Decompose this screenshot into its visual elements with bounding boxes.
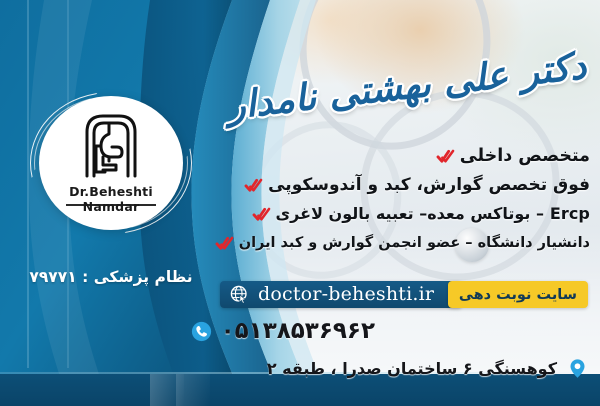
- appointment-badge[interactable]: سایت نوبت دهی: [448, 281, 588, 308]
- address-row: کوهسنگی ۶ ساختمان صدرا ، طبقه ۲: [267, 358, 588, 379]
- red-check-icon: [252, 205, 271, 224]
- website-url: doctor-beheshti.ir: [258, 285, 434, 304]
- services-list: متخصص داخلی فوق تخصص گوارش، کبد و آندوسک…: [170, 141, 590, 257]
- red-check-icon: [244, 176, 263, 195]
- website-bar[interactable]: doctor-beheshti.ir: [220, 281, 462, 308]
- service-item: دانشیار دانشگاه – عضو انجمن گوارش و کبد …: [170, 228, 590, 257]
- address-text: کوهسنگی ۶ ساختمان صدرا ، طبقه ۲: [267, 359, 557, 378]
- band-highlight: [176, 374, 210, 406]
- service-label: Ercp – بوتاکس معده– تعبیه بالون لاغری: [276, 204, 590, 223]
- service-label: فوق تخصص گوارش، کبد و آندوسکوپی: [268, 175, 590, 195]
- location-pin-icon: [567, 358, 588, 379]
- service-item: متخصص داخلی: [170, 141, 590, 170]
- red-check-icon: [215, 234, 234, 253]
- service-label: متخصص داخلی: [460, 146, 590, 166]
- service-item: فوق تخصص گوارش، کبد و آندوسکوپی: [170, 170, 590, 199]
- service-label: دانشیار دانشگاه – عضو انجمن گوارش و کبد …: [239, 235, 590, 251]
- medical-license-number: نظام پزشکی : ۷۹۷۷۱: [18, 268, 204, 286]
- red-check-icon: [436, 147, 455, 166]
- clinic-logo: Dr.Beheshti Namdar: [30, 96, 192, 230]
- globe-cursor-icon: [230, 285, 249, 304]
- phone-number: ۰۵۱۳۸۵۳۶۹۶۲: [221, 318, 375, 344]
- service-item: Ercp – بوتاکس معده– تعبیه بالون لاغری: [170, 199, 590, 228]
- clinic-banner: Dr.Beheshti Namdar نظام پزشکی : ۷۹۷۷۱ دک…: [0, 0, 600, 406]
- stomach-digestive-icon: [71, 110, 151, 182]
- logo-name: Dr.Beheshti Namdar: [39, 184, 183, 214]
- phone-icon: [191, 321, 212, 342]
- phone-row[interactable]: ۰۵۱۳۸۵۳۶۹۶۲: [191, 318, 375, 344]
